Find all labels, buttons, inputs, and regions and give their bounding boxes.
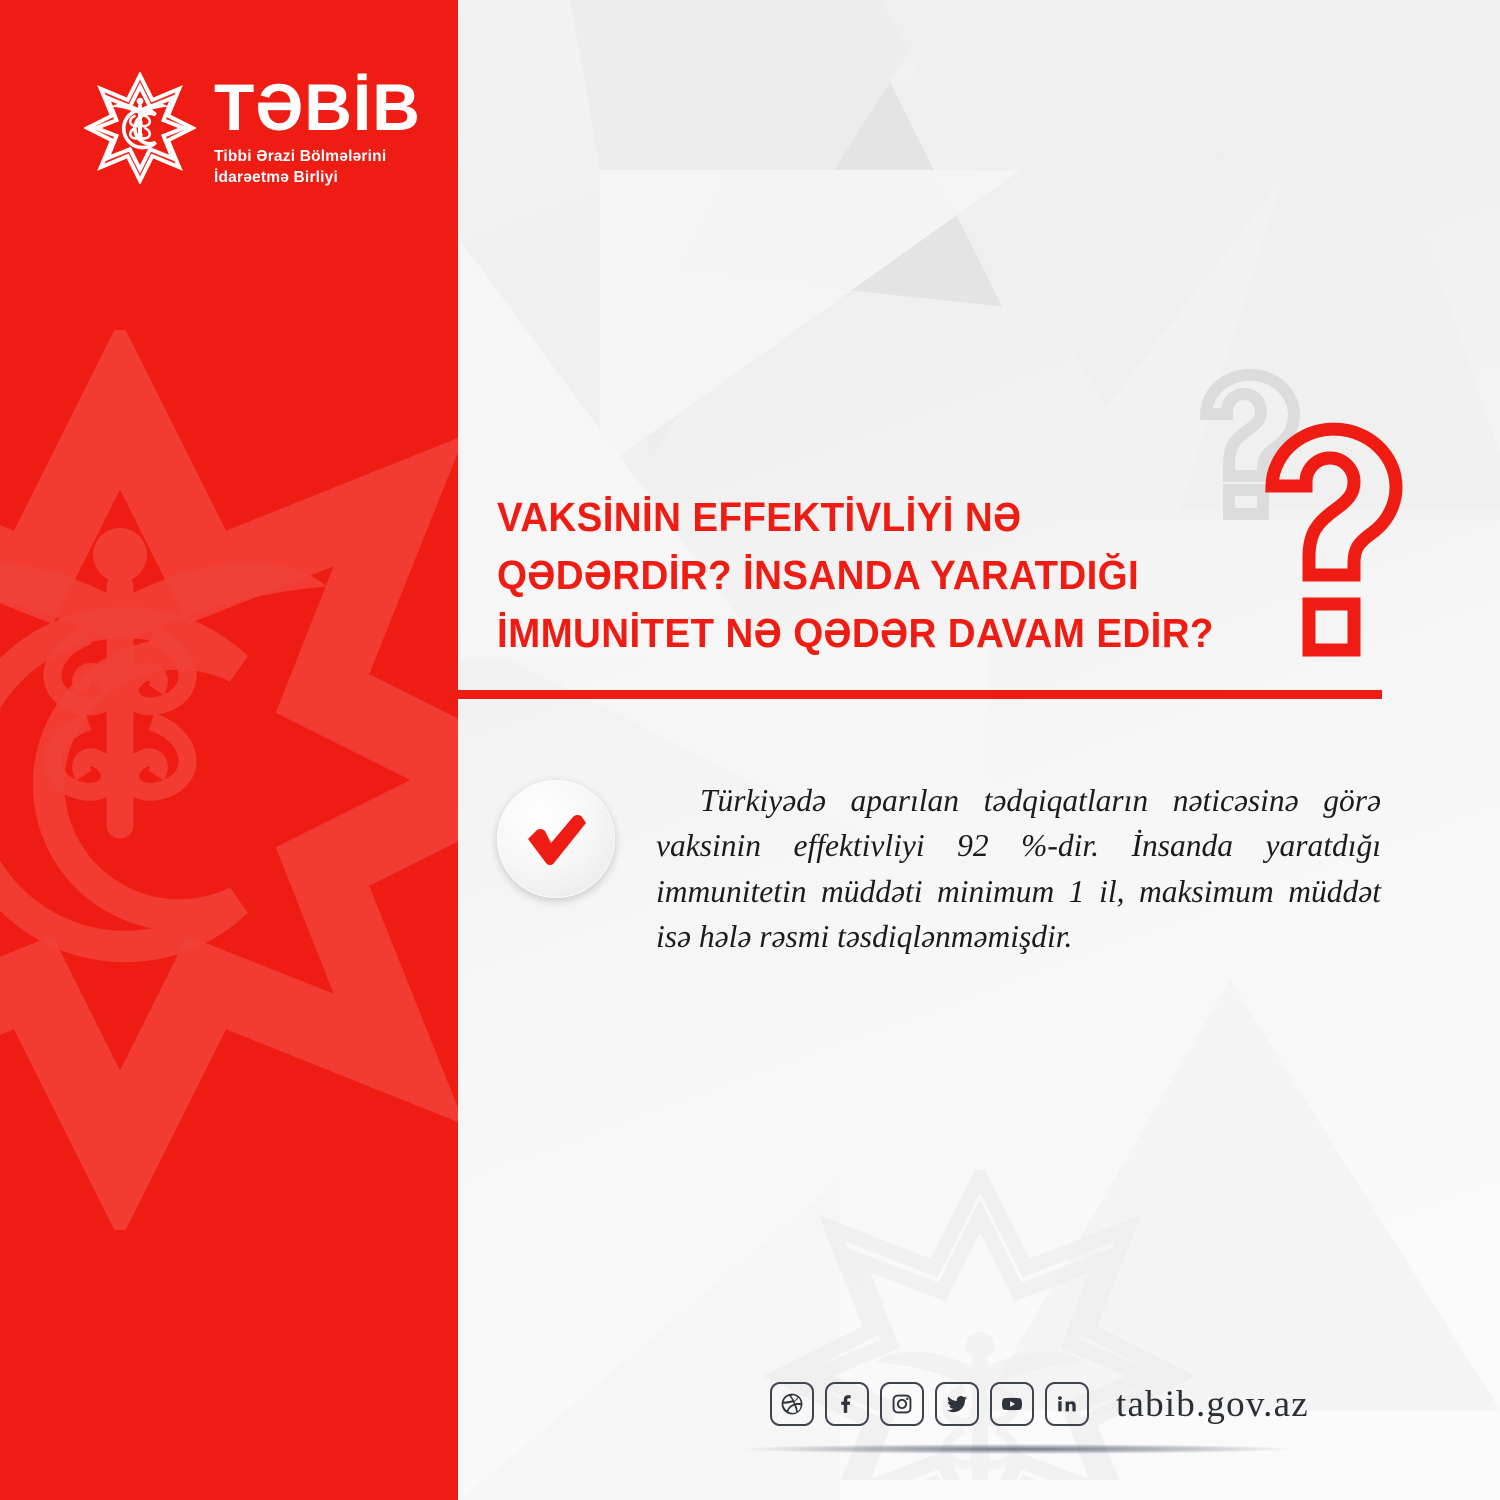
- twitter-icon[interactable]: [935, 1382, 979, 1426]
- headline-line-1: VAKSİNİN EFFEKTİVLİYİ NƏ: [497, 488, 1193, 546]
- check-mark-icon: [497, 780, 615, 898]
- headline-line-3: İMMUNİTET NƏ QƏDƏR DAVAM EDİR?: [497, 604, 1193, 662]
- logo-word: TƏBİB: [214, 76, 421, 139]
- footer-bar: tabib.gov.az: [770, 1382, 1309, 1426]
- logo-subtitle: Tibbi Ərazi Bölmələrini İdarəetmə Birliy…: [214, 146, 421, 189]
- page-title: VAKSİNİN EFFEKTİVLİYİ NƏ QƏDƏRDİR? İNSAN…: [497, 488, 1193, 663]
- footer-shadow-line: [745, 1444, 1290, 1454]
- logo-subtitle-line1: Tibbi Ərazi Bölmələrini: [214, 146, 421, 167]
- star-watermark-icon: [0, 330, 458, 1230]
- logo-subtitle-line2: İdarəetmə Birliyi: [214, 167, 421, 188]
- red-divider: [458, 690, 1382, 699]
- left-red-panel: [0, 0, 458, 1500]
- youtube-icon[interactable]: [990, 1382, 1034, 1426]
- linkedin-icon[interactable]: [1045, 1382, 1089, 1426]
- footer-star-watermark-icon: [720, 1170, 1240, 1480]
- dribbble-icon[interactable]: [770, 1382, 814, 1426]
- tabib-star-caduceus-icon: [84, 72, 196, 184]
- answer-block: Türkiyədə aparılan tədqiqatların nəticəs…: [497, 778, 1381, 959]
- headline-line-2: QƏDƏRDİR? İNSANDA YARATDIĞI: [497, 546, 1193, 604]
- infographic-poster: TƏBİB Tibbi Ərazi Bölmələrini İdarəetmə …: [0, 0, 1500, 1500]
- facebook-icon[interactable]: [825, 1382, 869, 1426]
- logo-wordmark: TƏBİB Tibbi Ərazi Bölmələrini İdarəetmə …: [214, 72, 421, 188]
- instagram-icon[interactable]: [880, 1382, 924, 1426]
- question-mark-red-icon: [1258, 368, 1422, 704]
- answer-text: Türkiyədə aparılan tədqiqatların nəticəs…: [656, 778, 1381, 959]
- tabib-logo[interactable]: TƏBİB Tibbi Ərazi Bölmələrini İdarəetmə …: [84, 72, 421, 188]
- website-url[interactable]: tabib.gov.az: [1116, 1383, 1309, 1426]
